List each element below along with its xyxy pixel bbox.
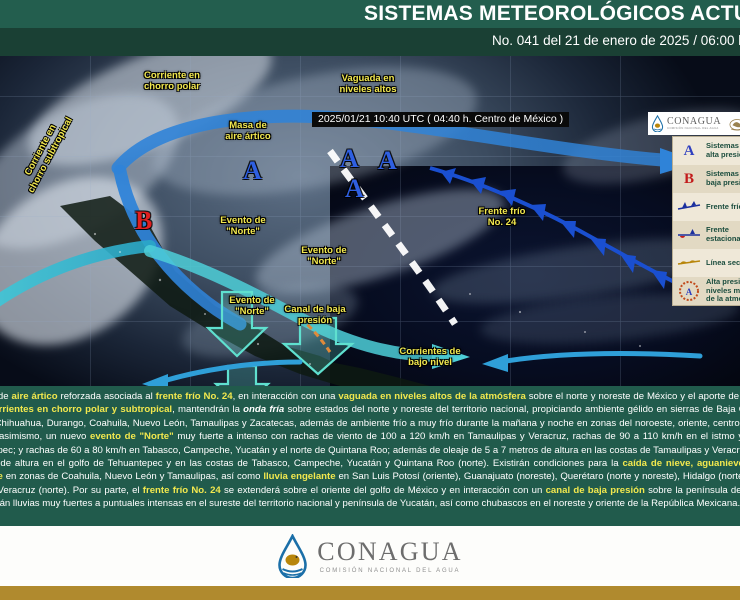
cold-front-symbol <box>430 168 700 294</box>
legend-item-mid-level-high: A Alta presión en niveles medios de la a… <box>673 277 740 305</box>
legend-item-cold-front: Frente frío <box>673 193 740 221</box>
legend-label: Sistemas de baja presión <box>706 170 740 187</box>
footer-gold-bar <box>0 586 740 600</box>
satellite-weather-map[interactable]: A A A A B 25N 20N Corriente en chorro po… <box>0 56 740 386</box>
legend-low-pressure-icon: B <box>676 165 702 193</box>
pressure-mark-high-2: A <box>340 144 359 174</box>
footer-logo-name: CONAGUA <box>317 539 462 565</box>
footer-logo-area: CONAGUA COMISIÓN NACIONAL DEL AGUA <box>0 526 740 586</box>
legend-item-dry-line: Línea seca <box>673 249 740 277</box>
pressure-mark-low-1: B <box>135 206 152 236</box>
legend-high-pressure-icon: A <box>676 137 702 165</box>
legend-item-low-pressure: B Sistemas de baja presión <box>673 165 740 193</box>
dry-line-icon <box>676 249 702 277</box>
conagua-footer-logo-icon <box>277 534 308 578</box>
bulletin-number: No. 041 del 21 de enero de 2025 / 06:00 … <box>492 33 740 48</box>
stationary-front-icon <box>676 221 702 249</box>
svg-text:A: A <box>686 287 693 297</box>
legend-item-stationary-front: Frente estacionario <box>673 221 740 249</box>
conagua-logo-strip: CONAGUA COMISIÓN NACIONAL DEL AGUA <box>648 112 740 135</box>
map-label-low-pressure-channel: Canal de baja presión <box>272 304 358 326</box>
map-timestamp: 2025/01/21 10:40 UTC ( 04:40 h. Centro d… <box>312 112 569 127</box>
map-label-jet-polar: Corriente en chorro polar <box>122 70 222 92</box>
map-label-low-level-currents: Corrientes de bajo nivel <box>386 346 474 368</box>
weather-bulletin-page: SISTEMAS METEOROLÓGICOS ACTUALES No. 041… <box>0 0 740 600</box>
mid-level-high-icon: A <box>676 277 702 305</box>
legend-label: Alta presión en niveles medios de la atm… <box>706 278 740 304</box>
pressure-mark-high-3: A <box>345 174 364 204</box>
map-label-cold-front-24: Frente frío No. 24 <box>462 206 542 228</box>
map-legend: A Sistemas de alta presión B Sistemas de… <box>672 136 740 306</box>
conagua-logo-icon <box>651 115 664 132</box>
forecast-paragraph: La masa de aire ártico reforzada asociad… <box>0 390 740 511</box>
cold-front-icon <box>676 193 702 221</box>
mexican-government-seal-icon <box>727 115 740 133</box>
map-label-norte-2: Evento de "Norte" <box>284 245 364 267</box>
legend-label: Frente frío <box>706 203 740 212</box>
legend-label: Sistemas de alta presión <box>706 142 740 159</box>
map-vector-overlay <box>0 56 740 386</box>
pressure-mark-high-1: A <box>243 156 262 186</box>
map-label-arctic-air: Masa de aire ártico <box>205 120 291 142</box>
legend-label: Línea seca <box>706 259 740 268</box>
pressure-mark-high-4: A <box>378 146 397 176</box>
map-label-norte-1: Evento de "Norte" <box>203 215 283 237</box>
legend-label: Frente estacionario <box>706 226 740 243</box>
legend-item-high-pressure: A Sistemas de alta presión <box>673 137 740 165</box>
conagua-logo-subtitle: COMISIÓN NACIONAL DEL AGUA <box>667 127 721 130</box>
footer-logo-subtitle: COMISIÓN NACIONAL DEL AGUA <box>317 568 462 574</box>
forecast-text-panel: La masa de aire ártico reforzada asociad… <box>0 386 740 526</box>
page-title: SISTEMAS METEOROLÓGICOS ACTUALES <box>364 2 740 26</box>
map-label-upper-trough: Vaguada en niveles altos <box>322 73 414 95</box>
